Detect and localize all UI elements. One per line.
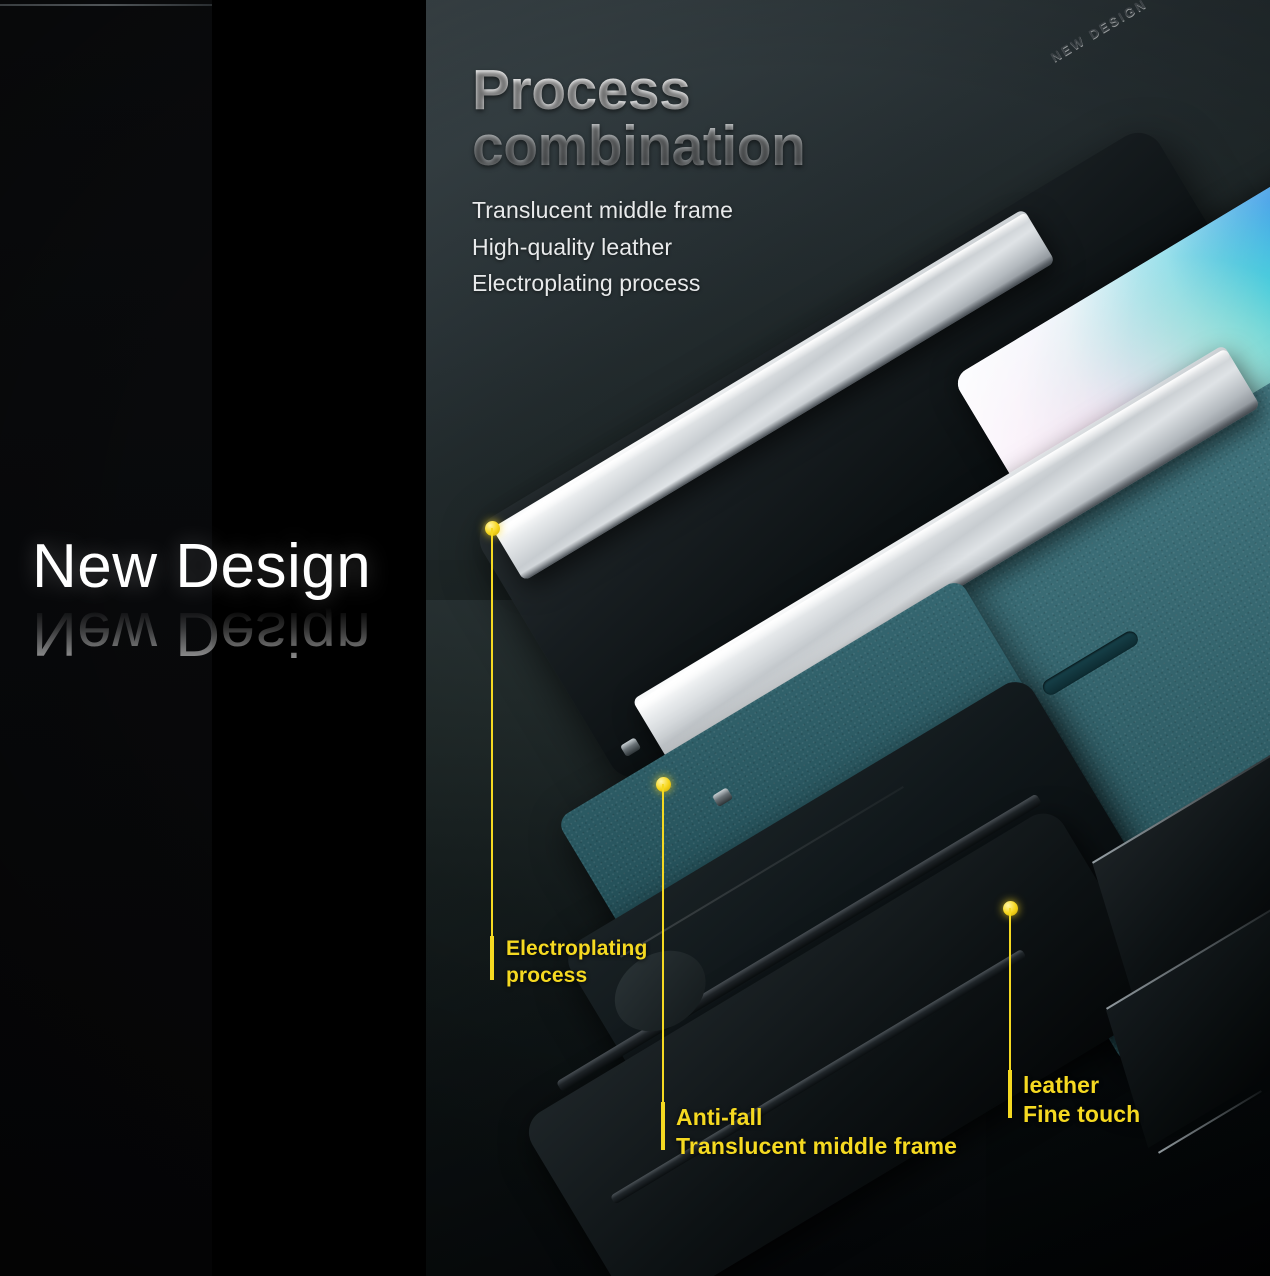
product-banner: NEW DESIGN Process combination Transluce…	[0, 0, 1270, 1276]
headline-bullet-3: Electroplating process	[472, 265, 902, 302]
callout-tick	[661, 1102, 665, 1150]
wordmark-text: New Design	[32, 536, 371, 598]
callout-leader-line	[491, 528, 493, 940]
headline-line-1: Process	[472, 58, 690, 122]
callout-tick	[1008, 1070, 1012, 1118]
callout-label-line-1: Electroplating	[506, 936, 647, 963]
headline-bullet-1: Translucent middle frame	[472, 192, 902, 229]
new-design-wordmark: New Design New Design	[32, 536, 371, 664]
callout-label-line-1: leather	[1023, 1071, 1099, 1100]
callout-label-line-2: Translucent middle frame	[676, 1132, 957, 1161]
wordmark-reflection: New Design	[32, 602, 371, 664]
headline-line-2: combination	[472, 118, 902, 174]
callout-label-line-1: Anti-fall	[676, 1103, 763, 1132]
callout-label-line-2: process	[506, 963, 587, 990]
headline-bullet-2: High-quality leather	[472, 229, 902, 266]
callout-leader-line	[662, 784, 664, 1106]
callout-label-line-2: Fine touch	[1023, 1100, 1140, 1129]
page-title: Process combination	[472, 62, 902, 175]
callout-tick	[490, 936, 494, 980]
engraved-new-design-label: NEW DESIGN	[1048, 0, 1150, 65]
headline-block: Process combination Translucent middle f…	[472, 62, 902, 302]
callout-leader-line	[1009, 908, 1011, 1072]
headline-bullets: Translucent middle frame High-quality le…	[472, 192, 902, 302]
